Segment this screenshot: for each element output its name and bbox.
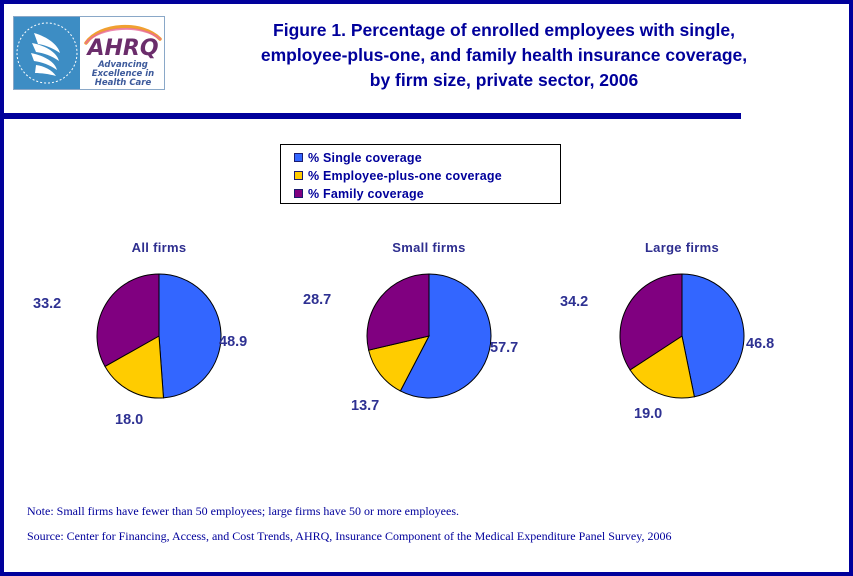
pie-value-small-firms-single: 57.7: [490, 340, 518, 356]
pie-title-small-firms: Small firms: [299, 240, 559, 255]
legend-swatch-single: [294, 153, 303, 162]
pie-value-small-firms-family: 28.7: [303, 292, 331, 308]
pie-svg-small-firms: % Single coverage: 57.7% Employee-plus-o…: [299, 262, 559, 422]
footnote-source: Source: Center for Financing, Access, an…: [27, 529, 671, 544]
pie-title-large-firms: Large firms: [552, 240, 812, 255]
pie-value-large-firms-family: 34.2: [560, 294, 588, 310]
legend-item-employee-plus-one: % Employee-plus-one coverage: [294, 167, 560, 184]
legend-label-employee-plus-one: % Employee-plus-one coverage: [308, 169, 502, 183]
pie-slice: % Single coverage: 46.8: [682, 274, 744, 397]
figure-title: Figure 1. Percentage of enrolled employe…: [174, 18, 834, 93]
pie-svg-all-firms: % Single coverage: 48.9% Employee-plus-o…: [29, 262, 289, 422]
pie-title-all-firms: All firms: [29, 240, 289, 255]
pie-value-large-firms-employee-plus-one: 19.0: [634, 406, 662, 422]
legend-swatch-family: [294, 189, 303, 198]
title-divider-rule: [4, 113, 741, 119]
pie-value-small-firms-employee-plus-one: 13.7: [351, 398, 379, 414]
pie-chart-all-firms: All firms % Single coverage: 48.9% Emplo…: [29, 240, 289, 440]
footnote-note: Note: Small firms have fewer than 50 emp…: [27, 504, 459, 519]
pie-value-all-firms-employee-plus-one: 18.0: [115, 412, 143, 428]
figure-title-line-2: employee-plus-one, and family health ins…: [174, 43, 834, 68]
legend-item-single: % Single coverage: [294, 149, 560, 166]
chart-legend: % Single coverage % Employee-plus-one co…: [280, 144, 561, 204]
pie-slice: % Single coverage: 48.9: [159, 274, 221, 398]
ahrq-wordmark: AHRQ Advancing Excellence in Health Care: [80, 17, 164, 89]
pie-value-all-firms-single: 48.9: [219, 334, 247, 350]
svg-text:Health Care: Health Care: [95, 78, 152, 88]
figure-title-line-3: by firm size, private sector, 2006: [174, 68, 834, 93]
pie-value-large-firms-single: 46.8: [746, 336, 774, 352]
legend-item-family: % Family coverage: [294, 185, 560, 202]
legend-swatch-employee-plus-one: [294, 171, 303, 180]
ahrq-logo: AHRQ Advancing Excellence in Health Care: [13, 16, 165, 90]
legend-label-single: % Single coverage: [308, 151, 422, 165]
svg-text:AHRQ: AHRQ: [85, 36, 158, 61]
figure-container: AHRQ Advancing Excellence in Health Care…: [0, 0, 853, 576]
figure-title-line-1: Figure 1. Percentage of enrolled employe…: [174, 18, 834, 43]
pie-chart-large-firms: Large firms % Single coverage: 46.8% Emp…: [552, 240, 812, 440]
hhs-seal-icon: [14, 17, 80, 89]
pie-chart-small-firms: Small firms % Single coverage: 57.7% Emp…: [299, 240, 559, 440]
legend-label-family: % Family coverage: [308, 187, 424, 201]
pie-value-all-firms-family: 33.2: [33, 296, 61, 312]
figure-header: AHRQ Advancing Excellence in Health Care…: [4, 4, 849, 108]
